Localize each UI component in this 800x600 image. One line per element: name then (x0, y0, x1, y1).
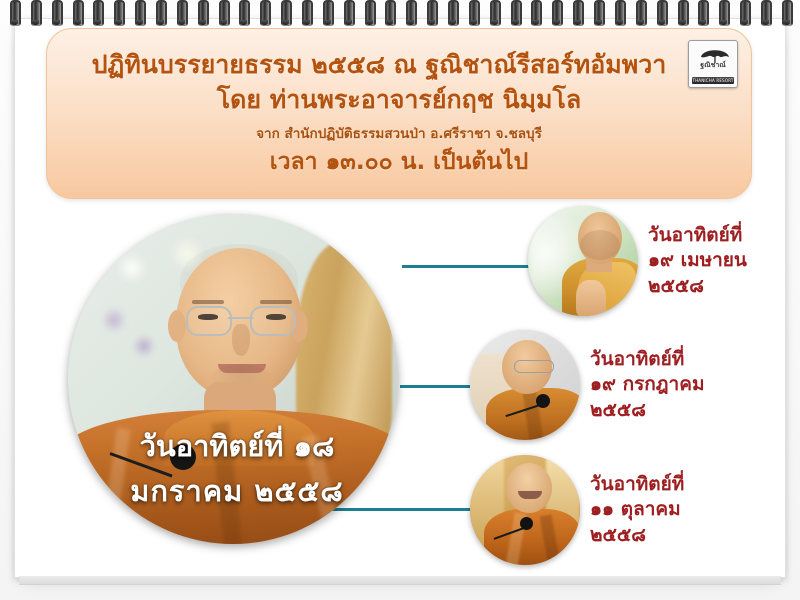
resort-logo[interactable]: ฐณิชาณ์ THANICHA RESORT (688, 40, 738, 88)
entry-1-text: วันอาทิตย์ที่ ๑๙ เมษายน ๒๕๕๘ (648, 223, 747, 300)
logo-name: ฐณิชาณ์ (689, 62, 737, 69)
entry-1-anjali-hands (576, 280, 606, 316)
header-time: เวลา ๑๓.๐๐ น. เป็นต้นไป (47, 148, 751, 177)
header-title-line1: ปฏิทินบรรยายธรรม ๒๕๕๘ ณ ฐณิชาณ์รีสอร์ทอั… (47, 49, 751, 80)
entry-3-line1: วันอาทิตย์ที่ (590, 472, 684, 498)
entry-2-photo (470, 330, 580, 440)
header-subtitle: จาก สำนักปฏิบัติธรรมสวนป่า อ.ศรีราชา จ.ช… (47, 126, 751, 143)
header-text-block: ปฏิทินบรรยายธรรม ๒๕๕๘ ณ ฐณิชาณ์รีสอร์ทอั… (47, 29, 751, 198)
entry-3-line3: ๒๕๕๘ (590, 523, 684, 549)
entry-3-monk-head (506, 463, 552, 513)
calendar-poster: ปฏิทินบรรยายธรรม ๒๕๕๘ ณ ฐณิชาณ์รีสอร์ทอั… (0, 0, 800, 600)
date-entry-3: วันอาทิตย์ที่ ๑๑ ตุลาคม ๒๕๕๘ (470, 455, 684, 565)
entry-2-line1: วันอาทิตย์ที่ (590, 347, 704, 373)
entry-3-line2: ๑๑ ตุลาคม (590, 497, 684, 523)
entry-2-line3: ๒๕๕๘ (590, 398, 704, 424)
entry-3-microphone-icon (520, 517, 533, 530)
monk-nose (232, 324, 250, 356)
logo-bar: THANICHA RESORT (692, 77, 734, 84)
entry-1-photo (528, 206, 638, 316)
entry-1-line1: วันอาทิตย์ที่ (648, 223, 747, 249)
microphone-icon (170, 444, 196, 470)
entry-2-line2: ๑๙ กรกฎาคม (590, 372, 704, 398)
connector-line-2 (400, 385, 478, 388)
monk-brow-right (260, 300, 292, 304)
entry-2-microphone-icon (536, 394, 550, 408)
monk-ear-left (168, 310, 186, 342)
entry-3-photo (470, 455, 580, 565)
entry-1-line3: ๒๕๕๘ (648, 274, 747, 300)
connector-line-1 (402, 265, 538, 268)
entry-3-text: วันอาทิตย์ที่ ๑๑ ตุลาคม ๒๕๕๘ (590, 472, 684, 549)
entry-1-face-shading (580, 230, 620, 260)
date-entry-1: วันอาทิตย์ที่ ๑๙ เมษายน ๒๕๕๘ (528, 206, 747, 316)
header-panel: ปฏิทินบรรยายธรรม ๒๕๕๘ ณ ฐณิชาณ์รีสอร์ทอั… (46, 28, 752, 199)
date-entry-2: วันอาทิตย์ที่ ๑๙ กรกฎาคม ๒๕๕๘ (470, 330, 704, 440)
entry-2-text: วันอาทิตย์ที่ ๑๙ กรกฎาคม ๒๕๕๘ (590, 347, 704, 424)
entry-2-eyeglasses-icon (514, 360, 554, 373)
logo-bar-text: THANICHA RESORT (692, 77, 734, 84)
entry-1-line2: ๑๙ เมษายน (648, 248, 747, 274)
header-title-line2: โดย ท่านพระอาจารย์กฤช นิมฺมโล (47, 84, 751, 115)
featured-photo (68, 214, 398, 544)
monk-brow-left (192, 300, 224, 304)
